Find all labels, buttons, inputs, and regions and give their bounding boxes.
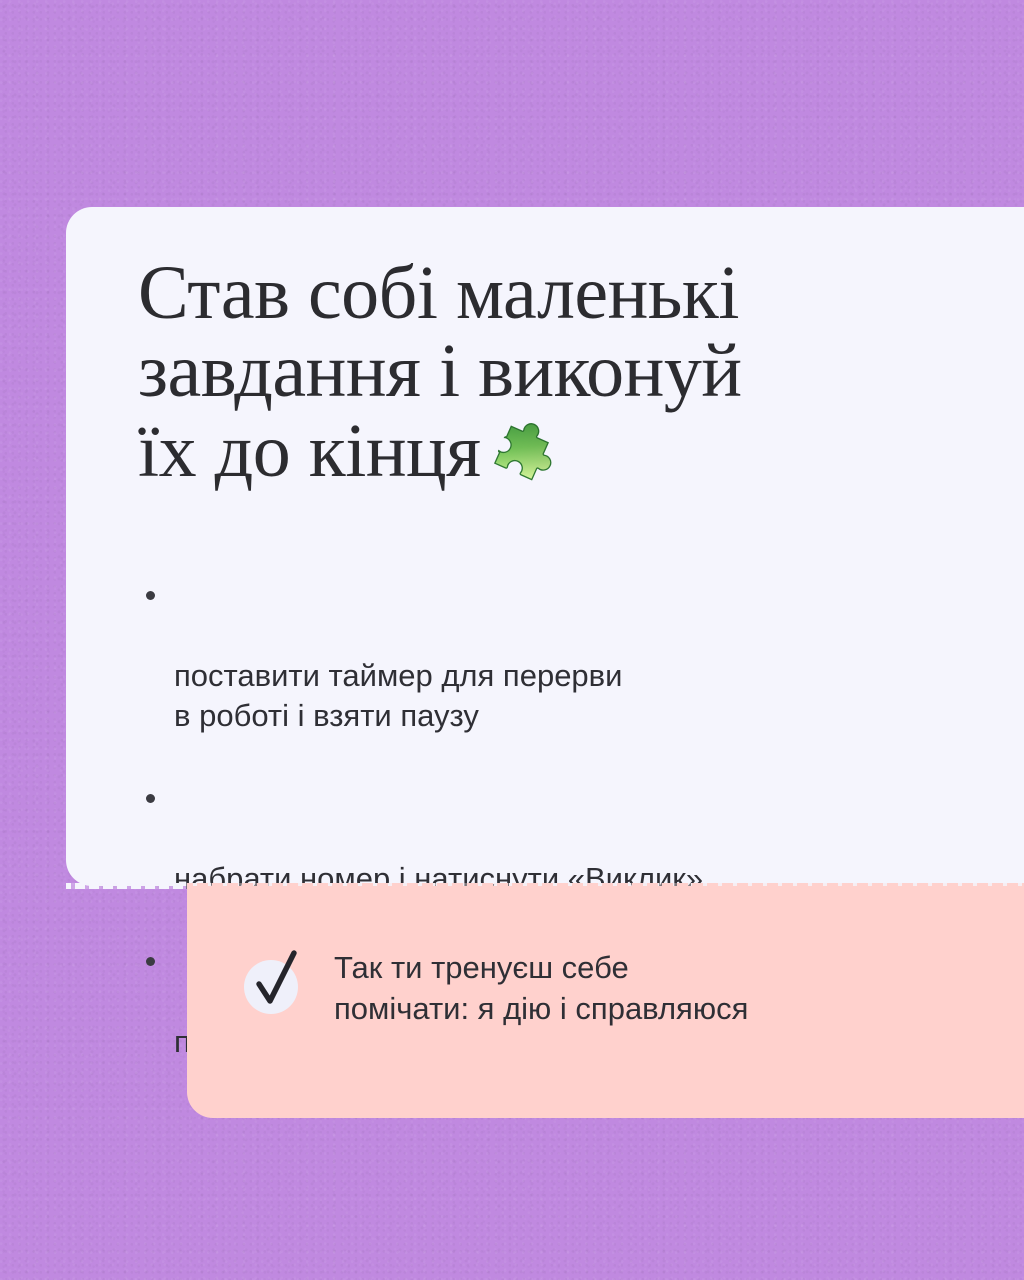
bullet-dot-icon (146, 591, 155, 600)
list-item: поставити таймер для перерви в роботі і … (140, 575, 970, 736)
page-title-text: Став собі маленькі завдання і виконуй їх… (138, 251, 742, 493)
bullet-dot-icon (146, 957, 155, 966)
check-mark-icon (244, 952, 298, 1014)
puzzle-piece-icon (487, 410, 563, 501)
main-card: Став собі маленькі завдання і виконуй їх… (66, 207, 1024, 886)
list-item: набрати номер і натиснути «Виклик» (140, 778, 970, 899)
callout-card: Так ти тренуєш себе помічати: я дію і сп… (187, 886, 1024, 1118)
list-item-label: поставити таймер для перерви в роботі і … (174, 658, 622, 733)
callout-row: Так ти тренуєш себе помічати: я дію і сп… (244, 948, 1000, 1061)
callout-text: Так ти тренуєш себе помічати: я дію і сп… (334, 948, 748, 1030)
poster-canvas: Став собі маленькі завдання і виконуй їх… (0, 0, 1024, 1280)
bullet-dot-icon (146, 794, 155, 803)
page-title: Став собі маленькі завдання і виконуй їх… (138, 255, 958, 501)
